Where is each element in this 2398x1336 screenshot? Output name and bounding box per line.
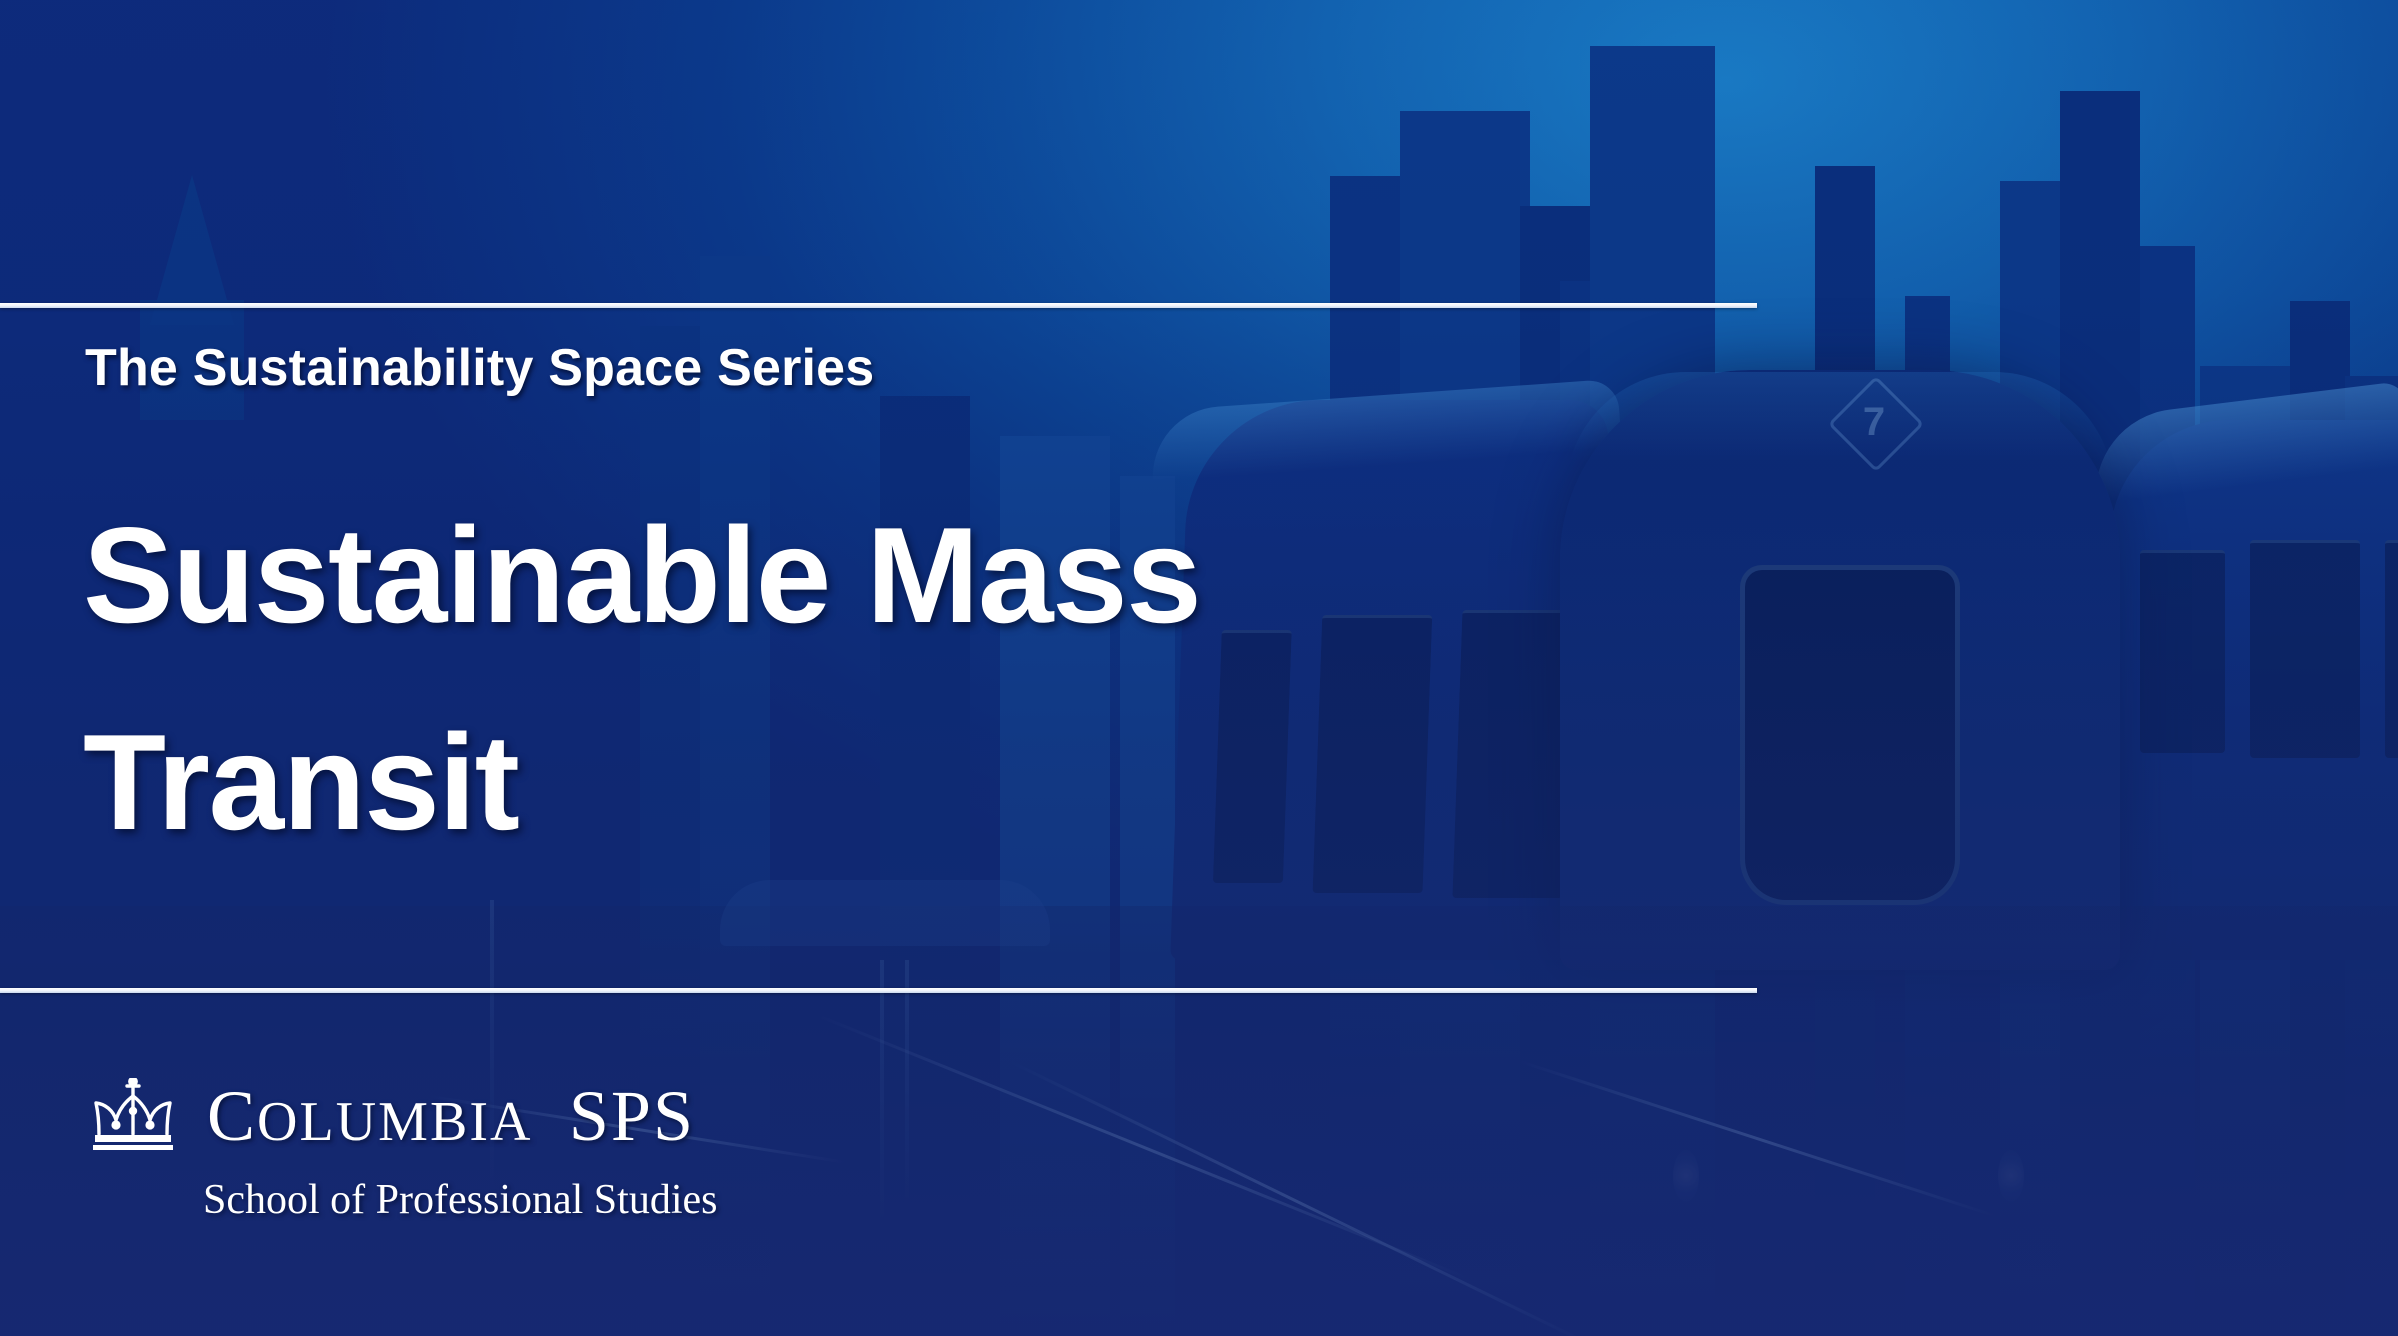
logo-tagline: School of Professional Studies bbox=[203, 1176, 717, 1224]
columbia-sps-logo: COLUMBIA SPS School of Professional Stud… bbox=[85, 1078, 717, 1224]
presentation-slide: 7 The Sustainability Space Series Sustai… bbox=[0, 0, 2398, 1336]
logo-lockup-row: COLUMBIA SPS bbox=[85, 1078, 717, 1154]
series-eyebrow: The Sustainability Space Series bbox=[85, 338, 874, 398]
logo-wordmark: COLUMBIA SPS bbox=[207, 1080, 695, 1152]
slide-title-line-2: Transit bbox=[83, 679, 1200, 886]
columbia-crown-icon bbox=[85, 1078, 181, 1154]
divider-top bbox=[0, 303, 1757, 308]
divider-bottom bbox=[0, 988, 1757, 993]
slide-title: Sustainable Mass Transit bbox=[83, 472, 1200, 885]
slide-content: The Sustainability Space Series Sustaina… bbox=[0, 0, 2398, 1336]
slide-title-line-1: Sustainable Mass bbox=[83, 472, 1200, 679]
